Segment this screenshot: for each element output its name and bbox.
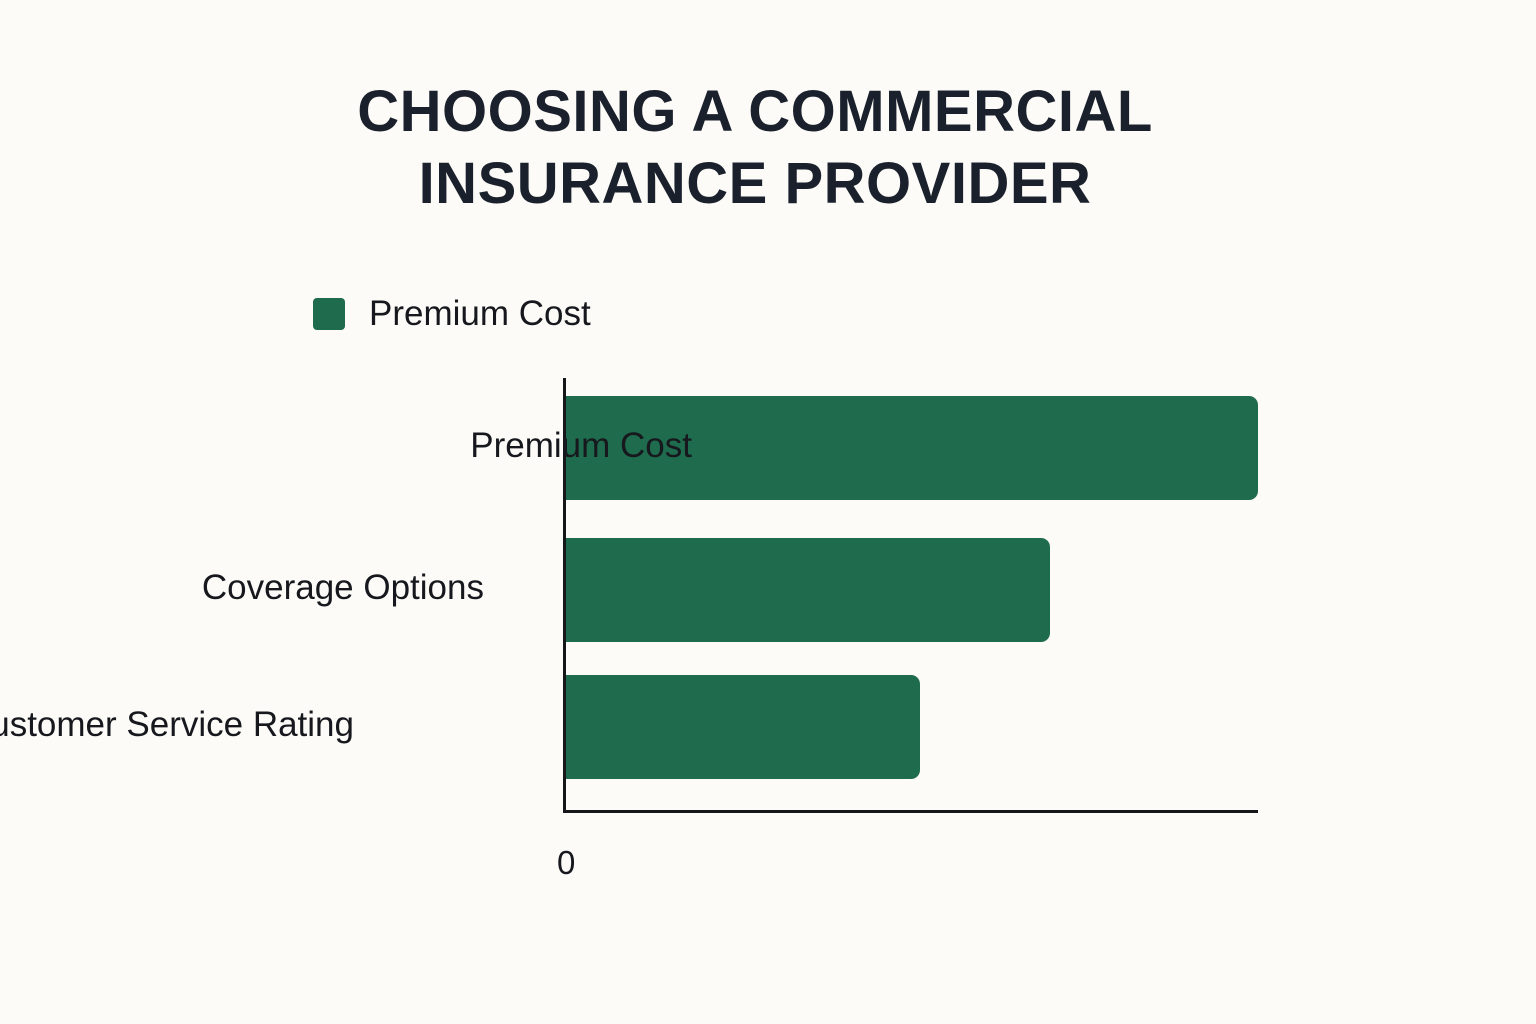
bar-row: Premium Cost: [566, 396, 1258, 500]
y-axis-label-customer-service-rating: Customer Service Rating: [0, 705, 354, 745]
x-axis-line: [563, 810, 1258, 813]
square-swatch-icon: [313, 298, 345, 330]
bar-row: Customer Service Rating: [566, 675, 920, 779]
y-axis-label-coverage-options: Coverage Options: [0, 568, 484, 608]
y-axis-label-premium-cost: Premium Cost: [132, 426, 692, 466]
legend-item-label: Premium Cost: [369, 296, 591, 332]
legend-item-premium-cost[interactable]: Premium Cost: [313, 296, 591, 332]
bar-coverage-options[interactable]: [566, 538, 1050, 642]
bar-row: Coverage Options: [566, 538, 1050, 642]
chart-legend: Premium Cost: [313, 296, 591, 332]
bar-customer-service-rating[interactable]: [566, 675, 920, 779]
plot-area: Premium Cost Coverage Options Customer S…: [566, 378, 1258, 810]
x-axis-tick-0: 0: [557, 845, 575, 881]
chart-canvas: CHOOSING A COMMERCIAL INSURANCE PROVIDER…: [0, 0, 1536, 1024]
page-title: CHOOSING A COMMERCIAL INSURANCE PROVIDER: [0, 76, 1510, 220]
